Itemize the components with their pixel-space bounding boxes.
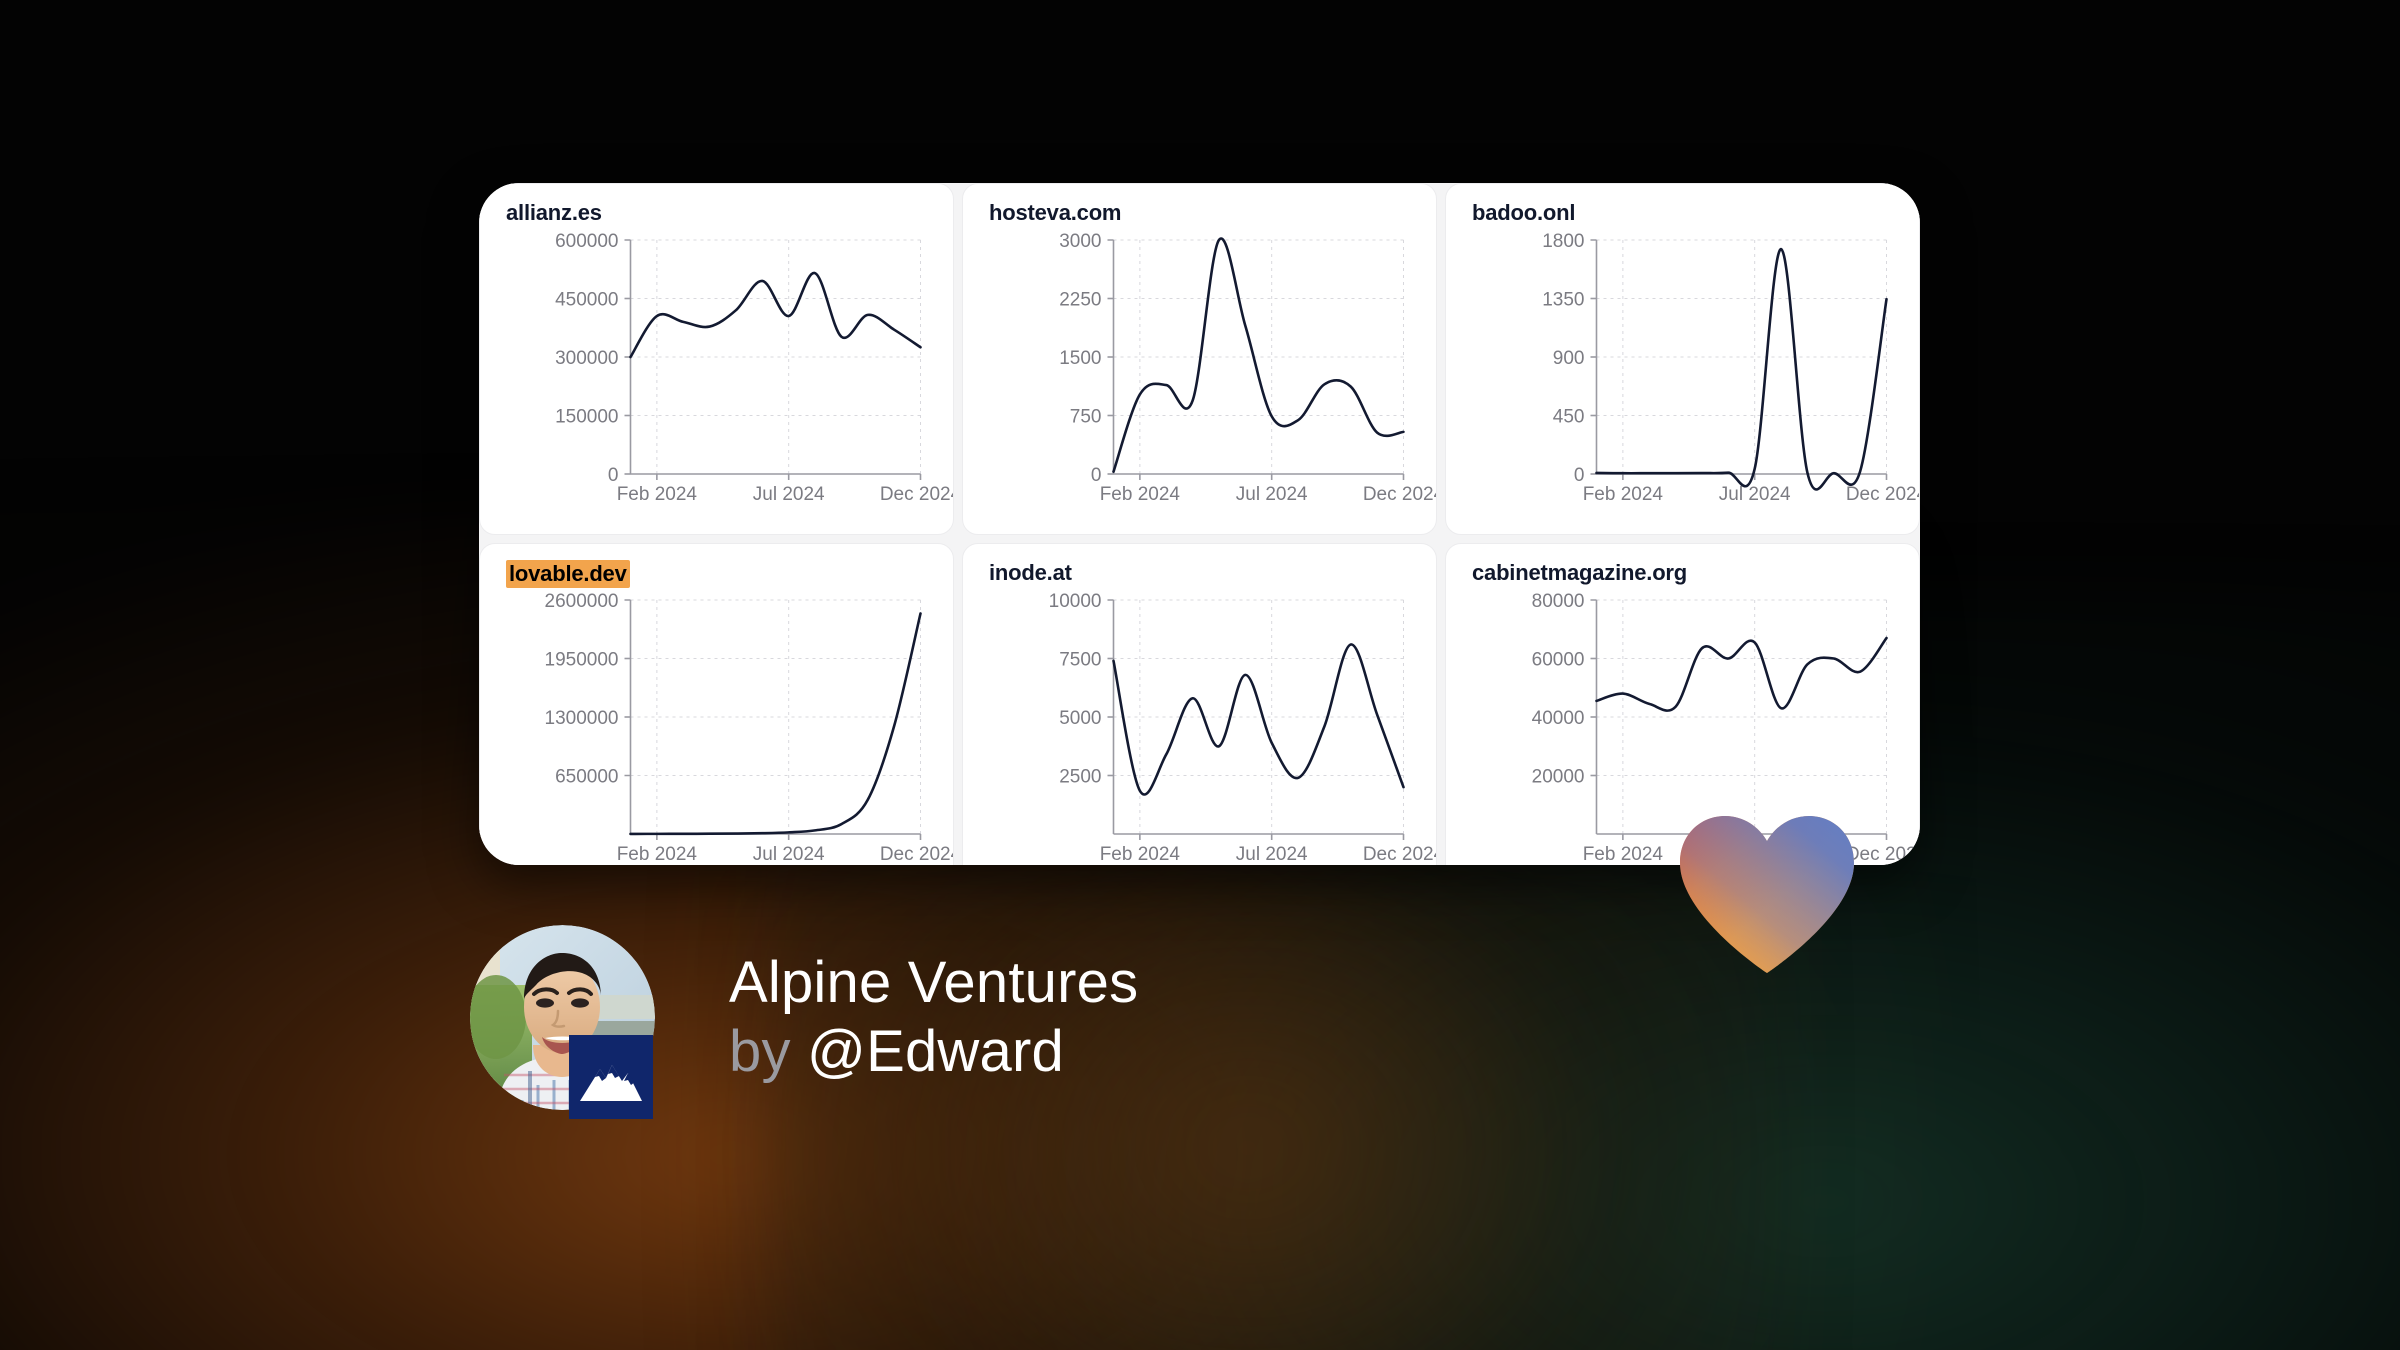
- org-name: Alpine Ventures: [729, 951, 1138, 1016]
- svg-text:900: 900: [1553, 348, 1585, 369]
- avatar-group: [470, 925, 655, 1110]
- svg-text:7500: 7500: [1059, 650, 1101, 671]
- svg-text:10000: 10000: [1049, 591, 1102, 612]
- chart-card[interactable]: hosteva.com0750150022503000Feb 2024Jul 2…: [962, 183, 1437, 535]
- footer-attribution: Alpine Ventures by @Edward: [470, 925, 1138, 1110]
- chart-plot: 0750150022503000Feb 2024Jul 2024Dec 2024: [963, 222, 1436, 522]
- svg-text:Dec 2024: Dec 2024: [1363, 844, 1436, 865]
- chart-plot: 0150000300000450000600000Feb 2024Jul 202…: [480, 222, 953, 522]
- svg-text:2500: 2500: [1059, 767, 1101, 788]
- svg-text:Feb 2024: Feb 2024: [1100, 844, 1181, 865]
- chart-plot: 20000400006000080000Feb 2024Jul 2024Dec …: [1446, 582, 1919, 865]
- mountain-logo-icon: [569, 1035, 653, 1119]
- svg-text:600000: 600000: [555, 231, 618, 252]
- chart-grid: allianz.es0150000300000450000600000Feb 2…: [479, 183, 1920, 865]
- svg-text:Jul 2024: Jul 2024: [753, 484, 825, 505]
- svg-text:1350: 1350: [1542, 290, 1584, 311]
- svg-text:3000: 3000: [1059, 231, 1101, 252]
- svg-text:0: 0: [1091, 465, 1102, 486]
- svg-text:1950000: 1950000: [545, 650, 619, 671]
- svg-text:Feb 2024: Feb 2024: [1583, 484, 1664, 505]
- svg-text:Dec 2024: Dec 2024: [880, 844, 953, 865]
- svg-text:Jul 2024: Jul 2024: [1719, 844, 1791, 865]
- svg-text:20000: 20000: [1532, 767, 1585, 788]
- svg-text:0: 0: [1574, 465, 1585, 486]
- svg-text:40000: 40000: [1532, 708, 1585, 729]
- svg-text:Dec 2024: Dec 2024: [1846, 484, 1919, 505]
- byline-by-label: by: [729, 1019, 791, 1084]
- svg-text:150000: 150000: [555, 407, 618, 428]
- svg-text:650000: 650000: [555, 767, 618, 788]
- svg-text:750: 750: [1070, 407, 1102, 428]
- chart-card[interactable]: inode.at25005000750010000Feb 2024Jul 202…: [962, 543, 1437, 865]
- svg-text:450000: 450000: [555, 290, 618, 311]
- svg-text:Jul 2024: Jul 2024: [1719, 484, 1791, 505]
- svg-text:450: 450: [1553, 407, 1585, 428]
- chart-plot: 25005000750010000Feb 2024Jul 2024Dec 202…: [963, 582, 1436, 865]
- chart-card[interactable]: allianz.es0150000300000450000600000Feb 2…: [479, 183, 954, 535]
- chart-plot: 650000130000019500002600000Feb 2024Jul 2…: [480, 582, 953, 865]
- chart-card[interactable]: lovable.dev650000130000019500002600000Fe…: [479, 543, 954, 865]
- svg-text:Dec 2024: Dec 2024: [1846, 844, 1919, 865]
- svg-text:60000: 60000: [1532, 650, 1585, 671]
- svg-text:300000: 300000: [555, 348, 618, 369]
- svg-text:Feb 2024: Feb 2024: [617, 844, 698, 865]
- svg-text:Feb 2024: Feb 2024: [1583, 844, 1664, 865]
- dashboard-panel: allianz.es0150000300000450000600000Feb 2…: [479, 183, 1920, 865]
- svg-text:Jul 2024: Jul 2024: [1236, 484, 1308, 505]
- byline-handle: @Edward: [807, 1019, 1064, 1084]
- svg-text:Dec 2024: Dec 2024: [880, 484, 953, 505]
- byline: by @Edward: [729, 1020, 1138, 1085]
- chart-plot: 045090013501800Feb 2024Jul 2024Dec 2024: [1446, 222, 1919, 522]
- svg-text:2600000: 2600000: [545, 591, 619, 612]
- footer-text: Alpine Ventures by @Edward: [729, 951, 1138, 1085]
- svg-text:1300000: 1300000: [545, 708, 619, 729]
- svg-text:Feb 2024: Feb 2024: [617, 484, 698, 505]
- svg-text:80000: 80000: [1532, 591, 1585, 612]
- svg-text:Jul 2024: Jul 2024: [1236, 844, 1308, 865]
- svg-text:2250: 2250: [1059, 290, 1101, 311]
- svg-text:Feb 2024: Feb 2024: [1100, 484, 1181, 505]
- svg-text:Jul 2024: Jul 2024: [753, 844, 825, 865]
- svg-text:Dec 2024: Dec 2024: [1363, 484, 1436, 505]
- svg-text:1800: 1800: [1542, 231, 1584, 252]
- svg-text:1500: 1500: [1059, 348, 1101, 369]
- chart-card[interactable]: badoo.onl045090013501800Feb 2024Jul 2024…: [1445, 183, 1920, 535]
- svg-text:5000: 5000: [1059, 708, 1101, 729]
- svg-text:0: 0: [608, 465, 619, 486]
- chart-card[interactable]: cabinetmagazine.org20000400006000080000F…: [1445, 543, 1920, 865]
